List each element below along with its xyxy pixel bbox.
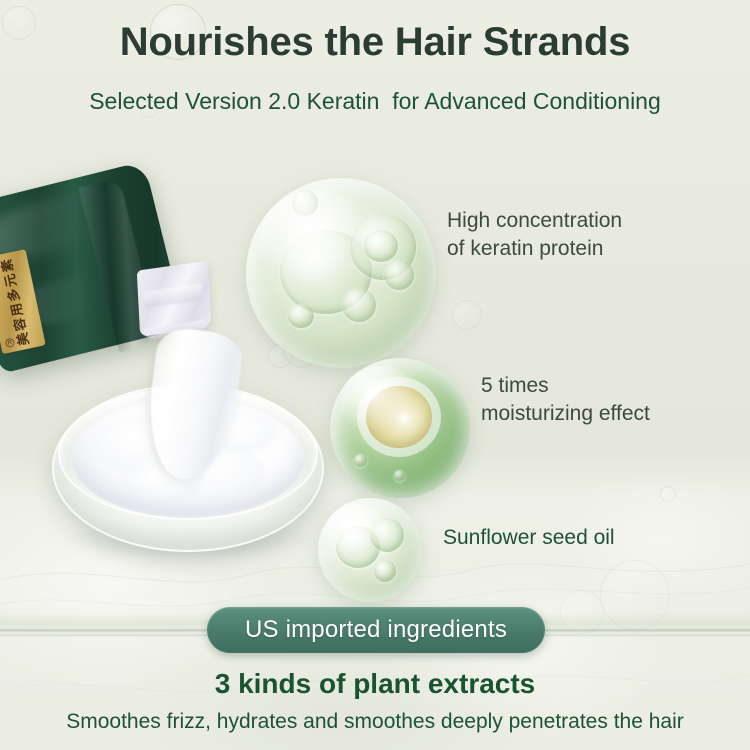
- sphere-gloss: [260, 190, 370, 288]
- sphere-inner-bubble: [384, 260, 414, 290]
- large-gel-sphere: [246, 178, 436, 368]
- feature-label-sunflower-oil: Sunflower seed oil: [443, 524, 615, 552]
- page-subtitle: Selected Version 2.0 Keratin for Advance…: [0, 88, 750, 115]
- small-gel-sphere: [318, 498, 422, 602]
- feature-label-high-keratin: High concentration of keratin protein: [447, 207, 622, 262]
- pouch-spout: [137, 261, 212, 337]
- sphere-inner-bubble: [394, 470, 405, 481]
- page-title: Nourishes the Hair Strands: [0, 20, 750, 65]
- feature-label-moisturizing: 5 times moisturizing effect: [481, 372, 650, 427]
- badge-label: US imported ingredients: [245, 616, 507, 644]
- footer-description: Smoothes frizz, hydrates and smoothes de…: [0, 710, 750, 734]
- imported-ingredients-badge: US imported ingredients: [207, 607, 545, 653]
- green-core-sphere: [330, 358, 470, 498]
- sphere-inner-bubble: [354, 454, 367, 467]
- sphere-inner-bubble: [288, 304, 314, 328]
- footer-headline: 3 kinds of plant extracts: [0, 668, 750, 700]
- sphere-gloss: [340, 366, 420, 436]
- product-infographic: Nourishes the Hair Strands Selected Vers…: [0, 0, 750, 750]
- sphere-inner-bubble: [374, 560, 396, 582]
- sphere-gloss: [326, 504, 386, 558]
- sphere-inner-bubble: [342, 288, 376, 322]
- spout-band: [144, 284, 202, 308]
- pouch-label-text: 美容用多元素: [0, 256, 33, 348]
